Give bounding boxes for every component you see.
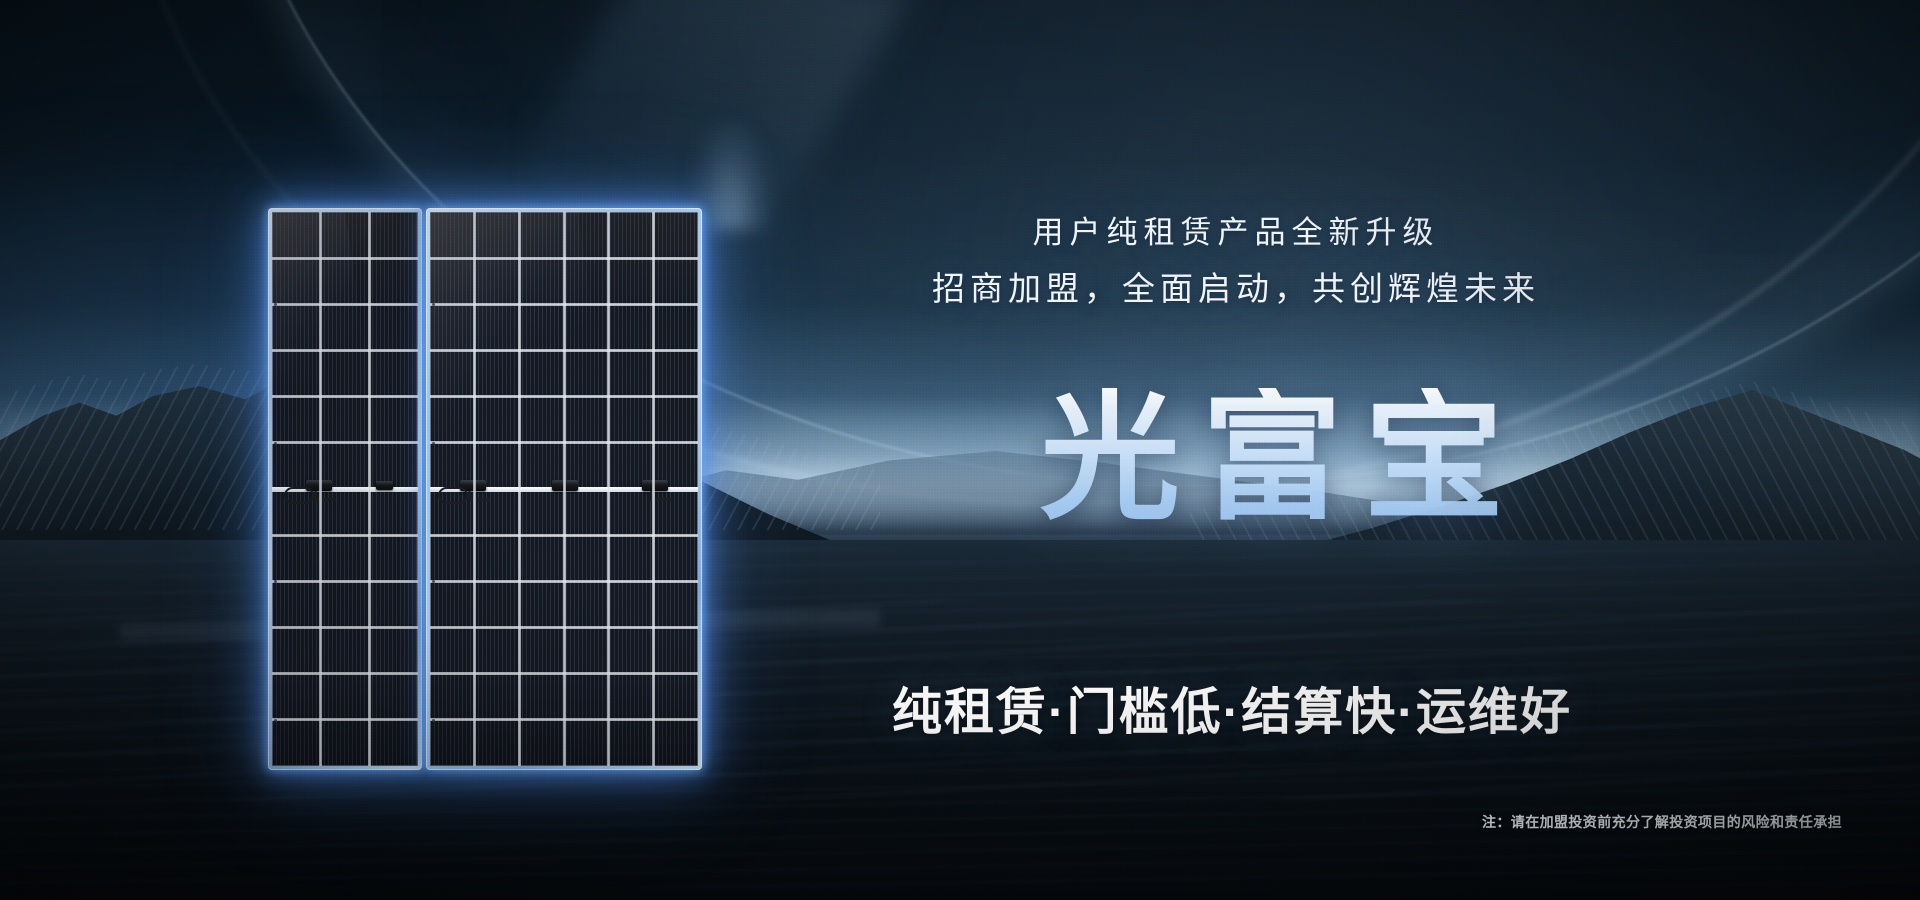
solar-panel-right-glass: [430, 212, 698, 766]
cell-gap-vertical: [607, 212, 610, 766]
solar-panel-assembly: [268, 208, 702, 770]
headline-block: 用户纯租赁产品全新升级 招商加盟，全面启动，共创辉煌未来: [932, 206, 1540, 317]
cell-grid-vertical: [272, 212, 418, 766]
slogan: 纯租赁·门槛低·结算快·运维好: [892, 672, 1572, 744]
solar-panel-left-glass: [272, 212, 418, 766]
solar-panel-left: [268, 208, 422, 770]
cell-gap-vertical: [319, 212, 322, 766]
cell-gap-vertical: [473, 212, 476, 766]
cell-grid-vertical: [430, 212, 698, 766]
promotional-banner: 用户纯租赁产品全新升级 招商加盟，全面启动，共创辉煌未来 光富宝 纯租赁·门槛低…: [0, 0, 1920, 900]
headline-line-1: 用户纯租赁产品全新升级: [932, 206, 1540, 260]
cell-gap-vertical: [652, 212, 655, 766]
cell-gap-vertical: [518, 212, 521, 766]
solar-panel-right: [426, 208, 702, 770]
brand-name: 光富宝: [1040, 388, 1526, 528]
disclaimer-footnote: 注：请在加盟投资前充分了解投资项目的风险和责任承担: [1482, 812, 1842, 832]
headline-line-2: 招商加盟，全面启动，共创辉煌未来: [932, 260, 1540, 317]
light-beam-hotspot: [690, 120, 770, 230]
cell-gap-vertical: [563, 212, 566, 766]
cell-gap-vertical: [368, 212, 371, 766]
